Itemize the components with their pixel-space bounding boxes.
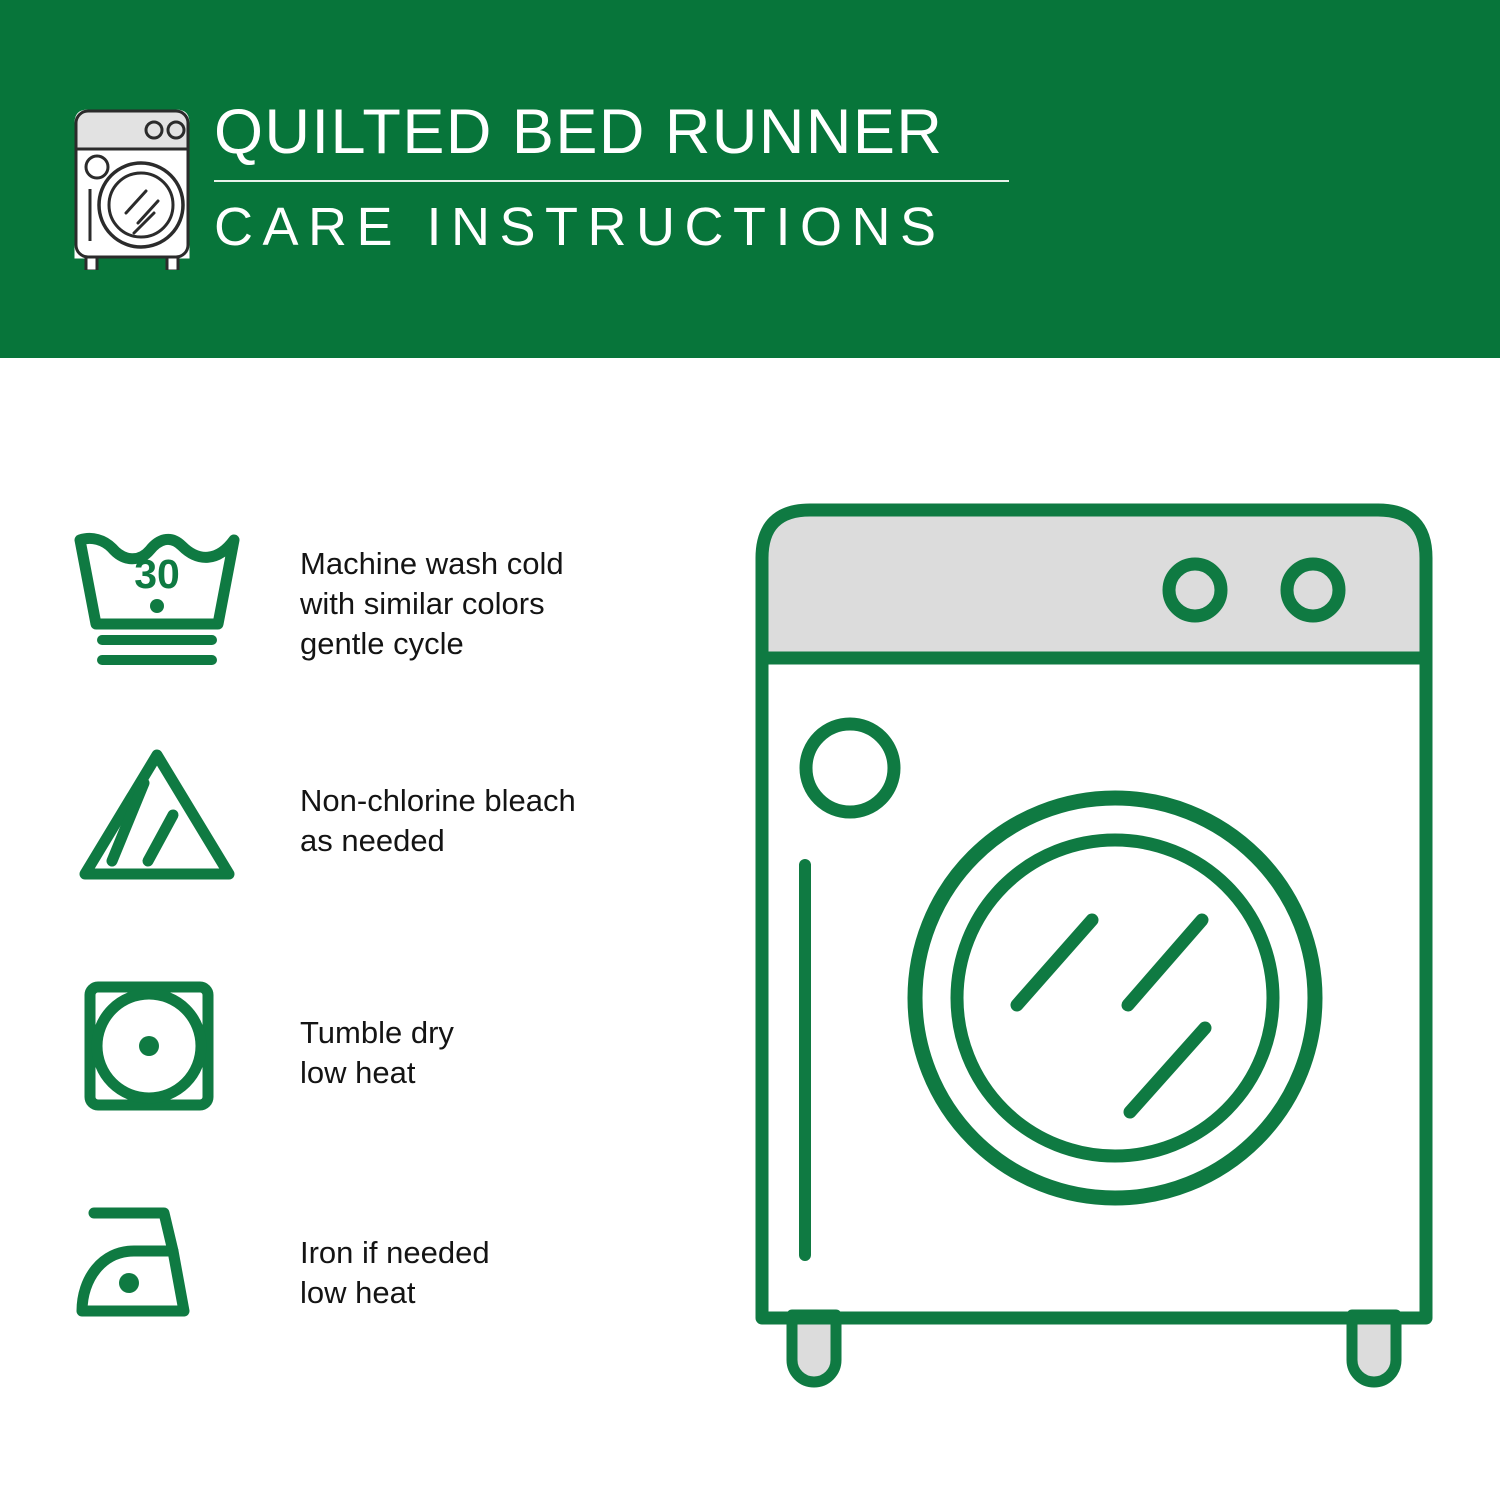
leg-left — [792, 1315, 836, 1382]
control-panel — [762, 510, 1426, 658]
care-label-bleach: Non-chlorine bleach as needed — [300, 781, 680, 861]
care-label-wash: Machine wash cold with similar colors ge… — [300, 544, 680, 664]
care-row-wash: 30 Machine wash cold with similar colors… — [0, 528, 700, 728]
header-text-block: QUILTED BED RUNNER CARE INSTRUCTIONS — [214, 96, 1034, 258]
drum-inner-ring — [957, 840, 1273, 1156]
door-latch — [806, 724, 894, 812]
care-row-tumble-dry: Tumble dry low heat — [0, 973, 700, 1173]
care-label-line: Machine wash cold — [300, 544, 680, 584]
leg-right — [1352, 1315, 1396, 1382]
care-label-tumble-dry: Tumble dry low heat — [300, 1013, 680, 1093]
care-label-line: Non-chlorine bleach — [300, 781, 680, 821]
care-label-line: with similar colors — [300, 584, 680, 624]
drum-motion-lines — [1017, 920, 1205, 1112]
care-instructions-infographic: QUILTED BED RUNNER CARE INSTRUCTIONS 30 — [0, 0, 1500, 1500]
wash-temperature-label: 30 — [134, 551, 180, 597]
care-symbol-list: 30 Machine wash cold with similar colors… — [0, 358, 700, 1500]
drum-outer-ring — [915, 798, 1315, 1198]
title-divider — [214, 180, 1009, 182]
care-label-line: gentle cycle — [300, 624, 680, 664]
care-row-iron: Iron if needed low heat — [0, 1193, 700, 1393]
care-label-line: low heat — [300, 1273, 680, 1313]
non-chlorine-bleach-triangle-icon — [72, 743, 242, 913]
header-banner: QUILTED BED RUNNER CARE INSTRUCTIONS — [0, 0, 1500, 358]
care-label-line: Tumble dry — [300, 1013, 680, 1053]
care-label-line: low heat — [300, 1053, 680, 1093]
washing-machine-icon — [62, 105, 202, 270]
care-label-iron: Iron if needed low heat — [300, 1233, 680, 1313]
page-title: QUILTED BED RUNNER — [214, 96, 1034, 168]
wash-tub-30-gentle-icon: 30 — [72, 528, 242, 698]
iron-low-heat-icon — [72, 1193, 242, 1363]
care-row-bleach: Non-chlorine bleach as needed — [0, 743, 700, 943]
page-subtitle: CARE INSTRUCTIONS — [214, 196, 1034, 258]
care-label-line: as needed — [300, 821, 680, 861]
front-load-washing-machine-illustration — [740, 480, 1460, 1420]
care-label-line: Iron if needed — [300, 1233, 680, 1273]
tumble-dry-low-heat-icon — [72, 973, 242, 1143]
